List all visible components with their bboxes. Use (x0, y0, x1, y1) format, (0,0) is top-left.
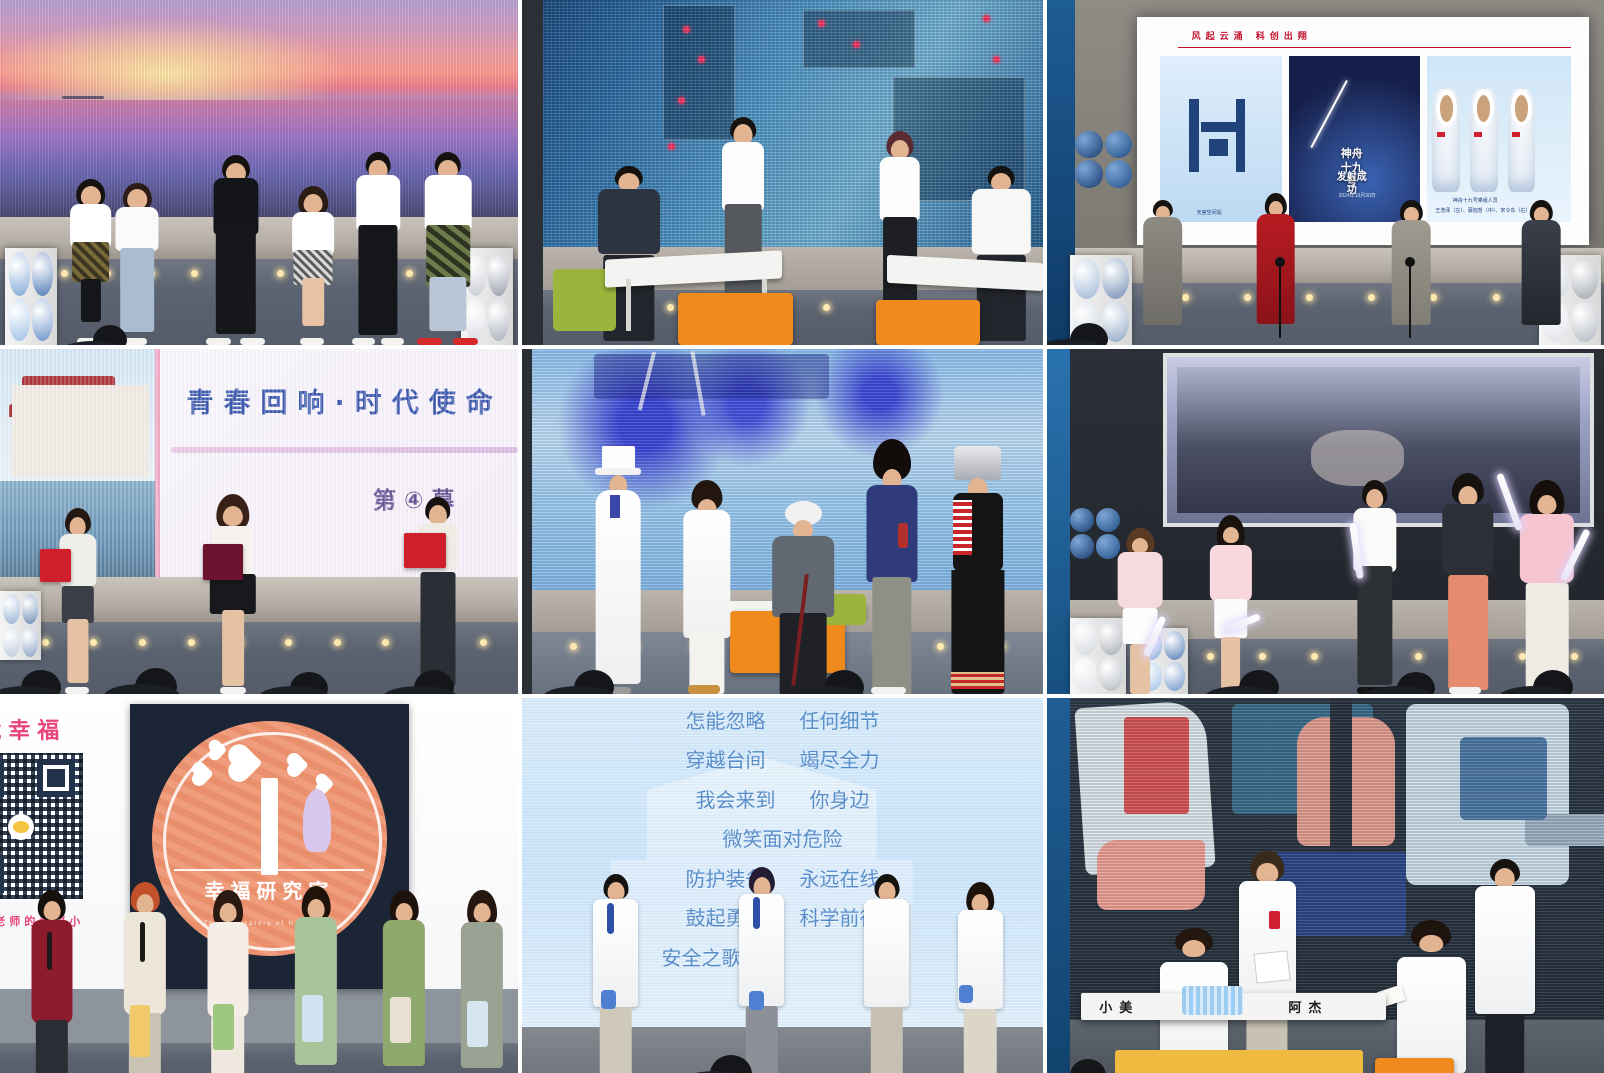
student-standing-left (1228, 851, 1307, 1073)
poster-right-caption-1: 神舟十九号乘组人员 (1453, 197, 1498, 204)
performer-1 (1109, 528, 1171, 694)
performer (409, 152, 487, 345)
performer-4 (1431, 473, 1504, 694)
photo-panel-top-right: 风起云涌 科创出翔 天宫空间站 神舟十九号 发射成功 2024年10月30日 神… (1047, 0, 1604, 345)
lyric-part: 怎能忽略 (686, 705, 766, 734)
photo-panel-bottom-center: 怎能忽略 任何细节 穿越台间 竭尽全力 我会来到 你身边 微笑面对危险 防护装备… (522, 698, 1043, 1073)
performer (1516, 200, 1567, 345)
student-seated-right (1386, 920, 1476, 1073)
photo-panel-bottom-left: 就幸福 江老师的幸福小 (0, 698, 518, 1073)
lyric-part: 竭尽全力 (800, 744, 880, 773)
microphone-stand (1409, 262, 1411, 338)
red-folder (40, 549, 71, 583)
singer (949, 882, 1012, 1073)
microphone (753, 897, 760, 929)
performer (1250, 193, 1301, 345)
balloon-cluster-wall (1075, 131, 1132, 179)
poster-date: 2024年10月30日 (1339, 192, 1376, 199)
nameplate-left: 小美 (1099, 997, 1139, 1016)
poster-headline: 风起云涌 科创出翔 (1192, 29, 1312, 42)
performer-ethnic-headdress (939, 446, 1017, 694)
performer-3 (1341, 480, 1409, 694)
host (197, 890, 259, 1073)
tree-trunk (261, 778, 278, 875)
performer-elderly (762, 501, 845, 694)
side-led-strip (1047, 698, 1070, 1073)
microphone-stand (1279, 262, 1281, 338)
performer-lab-coat (673, 480, 741, 694)
performer-2 (1200, 515, 1262, 694)
photo-panel-top-center (522, 0, 1043, 345)
host (285, 886, 347, 1073)
yellow-desk (1115, 1050, 1364, 1073)
projected-face (1311, 430, 1404, 486)
microphone (140, 922, 145, 962)
performer-blue-jacket (855, 439, 928, 694)
balloon-pillar-left (5, 248, 57, 345)
performer (342, 152, 415, 345)
performer (197, 155, 275, 345)
host (373, 890, 435, 1073)
lyric-part: 穿越台间 (686, 744, 766, 773)
singer (585, 874, 648, 1073)
chair-orange-right (876, 300, 980, 345)
photo-panel-middle-right (1047, 349, 1604, 694)
performer (1137, 200, 1188, 345)
microphone (47, 932, 52, 970)
glove (959, 985, 973, 1003)
performer (104, 183, 171, 345)
performer-5 (1510, 480, 1583, 694)
maroon-folder (203, 544, 244, 580)
poster-right-image: 神舟十九号乘组人员 王浩泽（左）、蔡旭哲（中）、宋令东（右） (1427, 56, 1572, 222)
performer (1386, 200, 1437, 345)
lyric-line: 穿越台间 竭尽全力 (522, 744, 1043, 773)
prize-box (390, 997, 411, 1043)
red-folder (404, 533, 446, 568)
host (21, 890, 83, 1073)
qr-code (0, 753, 83, 899)
poster-center-image: 神舟十九号 发射成功 2024年10月30日 (1289, 56, 1420, 222)
prize-box (130, 1005, 150, 1057)
photo-collage: 风起云涌 科创出翔 天宫空间站 神舟十九号 发射成功 2024年10月30日 神… (0, 0, 1604, 1073)
microphone (607, 903, 614, 934)
name-table: 小美 阿杰 (1081, 993, 1386, 1020)
chair-orange-left (678, 293, 793, 345)
balloon-pillar-left (0, 591, 41, 660)
performer-right (404, 497, 471, 694)
lyric-line: 我会来到 你身边 (522, 784, 1043, 813)
lyric-part: 任何细节 (800, 705, 880, 734)
paper-sheet (1253, 951, 1290, 984)
performer-top-hat (585, 446, 653, 694)
singer (855, 874, 918, 1073)
host (114, 882, 176, 1073)
lyric-part: 微笑面对危险 (723, 823, 843, 852)
singer (730, 867, 793, 1073)
lyric-line: 微笑面对危险 (522, 823, 1043, 852)
performer-center (197, 494, 270, 694)
chair-orange (1375, 1058, 1454, 1073)
prize-box (302, 995, 323, 1042)
photo-panel-top-left (0, 0, 518, 345)
photo-panel-bottom-right: 小美 阿杰 (1047, 698, 1604, 1073)
glove (749, 991, 764, 1010)
flag-badge (1269, 911, 1280, 929)
slide-pink-headline: 就幸福 (0, 713, 66, 745)
prize-box (467, 1001, 488, 1047)
student-standing-right (1465, 859, 1544, 1073)
nameplate-right: 阿杰 (1288, 997, 1328, 1016)
blue-tray (1182, 986, 1243, 1015)
lyric-part: 你身边 (810, 784, 870, 813)
performer-left (47, 508, 109, 694)
lyric-part: 我会来到 (696, 784, 776, 813)
photo-panel-middle-left: 青春回响·时代使命 第④幕 (0, 349, 518, 694)
side-led-strip (1047, 349, 1070, 694)
performer (280, 186, 347, 345)
poster-left-caption: 天宫空间站 (1197, 209, 1222, 216)
lyric-line: 怎能忽略 任何细节 (522, 705, 1043, 734)
glove (601, 990, 616, 1009)
host (451, 890, 513, 1073)
prize-box (213, 1004, 234, 1050)
photo-panel-middle-center (522, 349, 1043, 694)
mascot-figure (303, 789, 331, 852)
slide-title: 青春回响·时代使命 (186, 381, 502, 420)
